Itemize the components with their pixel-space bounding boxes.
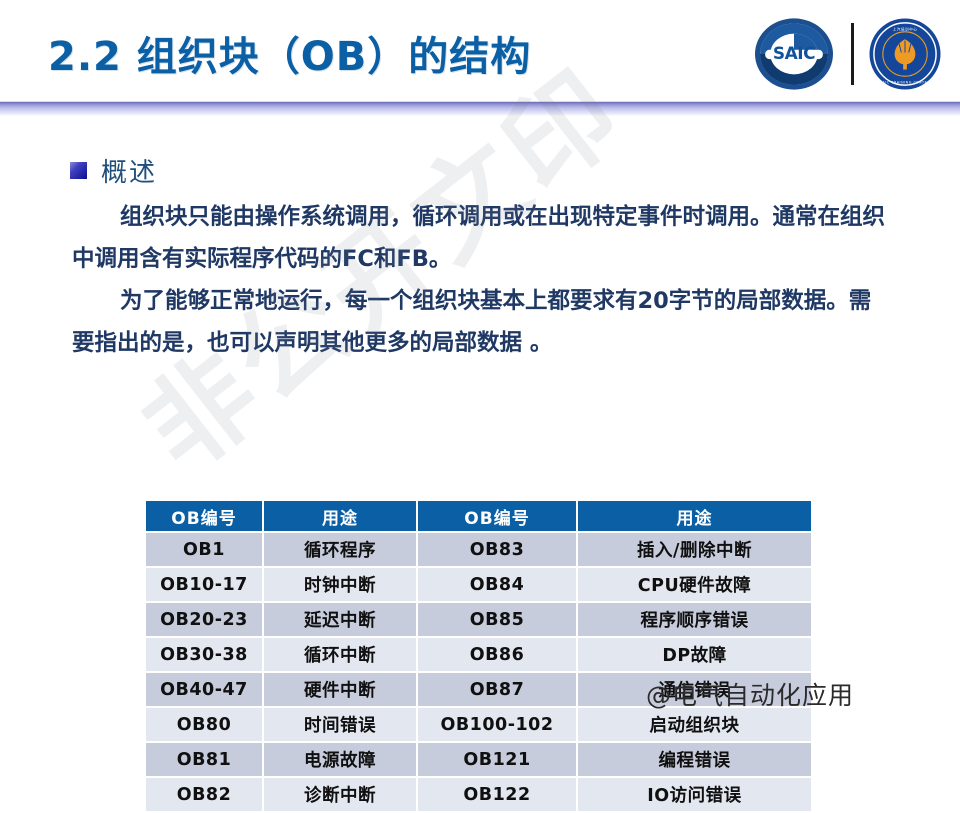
logo-divider	[851, 23, 854, 85]
table-header-cell: 用途	[264, 501, 416, 531]
table-cell: OB30-38	[146, 638, 262, 671]
table-row: OB40-47 硬件中断 OB87 通信错误	[146, 673, 811, 706]
ob-table: OB编号 用途 OB编号 用途 OB1 循环程序 OB83 插入/删除中断 OB…	[144, 499, 813, 813]
page-title: 2.2 组织块（OB）的结构	[48, 24, 531, 82]
saic-logo: SAIC	[751, 15, 837, 93]
table-cell: OB82	[146, 778, 262, 811]
table-cell: 程序顺序错误	[578, 603, 811, 636]
svg-text:SAIC TRAINING CENTER: SAIC TRAINING CENTER	[880, 81, 930, 85]
table-row: OB20-23 延迟中断 OB85 程序顺序错误	[146, 603, 811, 636]
table-row: OB80 时间错误 OB100-102 启动组织块	[146, 708, 811, 741]
table-header-cell: 用途	[578, 501, 811, 531]
table-cell: 循环程序	[264, 533, 416, 566]
table-cell: OB83	[418, 533, 576, 566]
table-cell: 延迟中断	[264, 603, 416, 636]
table-header-cell: OB编号	[146, 501, 262, 531]
paragraph: 组织块只能由操作系统调用，循环调用或在出现特定事件时调用。通常在组织中调用含有实…	[72, 196, 888, 280]
table-cell: OB40-47	[146, 673, 262, 706]
table-cell: OB122	[418, 778, 576, 811]
table-cell: 电源故障	[264, 743, 416, 776]
table-cell: 时间错误	[264, 708, 416, 741]
table-cell: 时钟中断	[264, 568, 416, 601]
table-cell: IO访问错误	[578, 778, 811, 811]
table-cell: 循环中断	[264, 638, 416, 671]
header-divider	[0, 100, 960, 116]
training-center-logo: 上汽培训中心 SAIC TRAINING CENTER	[868, 17, 942, 91]
table-cell: OB86	[418, 638, 576, 671]
table-row: OB81 电源故障 OB121 编程错误	[146, 743, 811, 776]
section-heading: 概述	[70, 152, 157, 189]
square-bullet-icon	[70, 162, 87, 179]
table-cell: 诊断中断	[264, 778, 416, 811]
table-cell: OB10-17	[146, 568, 262, 601]
section-heading-label: 概述	[101, 152, 157, 189]
table-cell: OB80	[146, 708, 262, 741]
table-cell: 插入/删除中断	[578, 533, 811, 566]
table-cell: 硬件中断	[264, 673, 416, 706]
table-row: OB1 循环程序 OB83 插入/删除中断	[146, 533, 811, 566]
table-cell: 启动组织块	[578, 708, 811, 741]
table-cell: OB121	[418, 743, 576, 776]
table-cell: OB81	[146, 743, 262, 776]
table-cell: 通信错误	[578, 673, 811, 706]
slide-header: 2.2 组织块（OB）的结构 SAIC 上汽培训中心 SAIC TRAINING…	[0, 0, 960, 100]
paragraph-block: 组织块只能由操作系统调用，循环调用或在出现特定事件时调用。通常在组织中调用含有实…	[72, 196, 888, 364]
table-cell: OB85	[418, 603, 576, 636]
ob-table-wrapper: OB编号 用途 OB编号 用途 OB1 循环程序 OB83 插入/删除中断 OB…	[144, 499, 811, 813]
table-cell: OB1	[146, 533, 262, 566]
svg-text:上汽培训中心: 上汽培训中心	[893, 26, 918, 31]
table-cell: 编程错误	[578, 743, 811, 776]
table-header-row: OB编号 用途 OB编号 用途	[146, 501, 811, 531]
table-cell: OB84	[418, 568, 576, 601]
table-header-cell: OB编号	[418, 501, 576, 531]
table-cell: OB87	[418, 673, 576, 706]
table-cell: OB20-23	[146, 603, 262, 636]
paragraph: 为了能够正常地运行，每一个组织块基本上都要求有20字节的局部数据。需要指出的是，…	[72, 280, 888, 364]
table-row: OB10-17 时钟中断 OB84 CPU硬件故障	[146, 568, 811, 601]
table-cell: DP故障	[578, 638, 811, 671]
table-row: OB30-38 循环中断 OB86 DP故障	[146, 638, 811, 671]
svg-text:SAIC: SAIC	[773, 43, 815, 63]
table-cell: OB100-102	[418, 708, 576, 741]
table-row: OB82 诊断中断 OB122 IO访问错误	[146, 778, 811, 811]
table-cell: CPU硬件故障	[578, 568, 811, 601]
logo-group: SAIC 上汽培训中心 SAIC TRAINING CENTER	[751, 14, 942, 94]
